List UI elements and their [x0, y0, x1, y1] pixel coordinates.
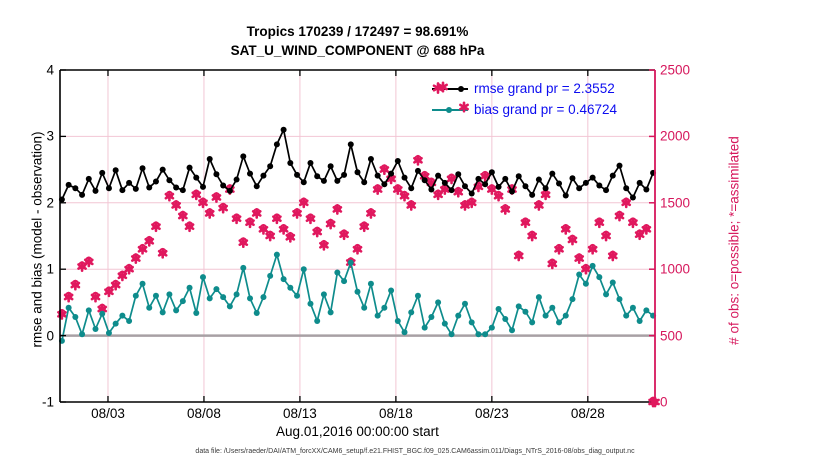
bias-series — [59, 252, 656, 344]
observation-diagnostics-figure: Tropics 170239 / 172497 = 98.691% SAT_U_… — [0, 0, 830, 470]
legend-label-bias: bias grand pr = 0.46724 — [472, 99, 617, 120]
y-tick-left-1: 1 — [46, 262, 54, 277]
legend-swatch-bias — [428, 99, 472, 120]
x-axis-label: Aug.01,2016 00:00:00 start — [60, 424, 655, 439]
x-tick-08/03: 08/03 — [91, 406, 125, 421]
x-tick-08/28: 08/28 — [571, 406, 605, 421]
chart-legend: rmse grand pr = 2.3552 bias grand pr = 0… — [428, 78, 617, 120]
x-tick-08/23: 08/23 — [475, 406, 509, 421]
rmse-series — [59, 127, 656, 203]
legend-row-bias: bias grand pr = 0.46724 — [428, 99, 617, 120]
title-line-1: Tropics 170239 / 172497 = 98.691% — [0, 22, 715, 41]
x-tick-08/18: 08/18 — [379, 406, 413, 421]
x-tick-08/13: 08/13 — [283, 406, 317, 421]
x-tick-08/08: 08/08 — [187, 406, 221, 421]
y-tick-right-1500: 1500 — [660, 195, 690, 210]
legend-row-rmse: rmse grand pr = 2.3552 — [428, 78, 617, 99]
y-tick-right-2000: 2000 — [660, 129, 690, 144]
y-tick-right-1000: 1000 — [660, 262, 690, 277]
y-tick-left-0: 0 — [46, 328, 54, 343]
y-axis-right-ticks: 05001000150020002500 — [660, 0, 710, 470]
legend-swatch-rmse — [428, 78, 472, 99]
y-axis-right-label: # of obs: o=possible; *=assimilated — [727, 71, 742, 411]
y-tick-right-0: 0 — [660, 395, 668, 410]
legend-label-rmse: rmse grand pr = 2.3552 — [472, 78, 615, 99]
y-tick-left-3: 3 — [46, 129, 54, 144]
y-tick-right-500: 500 — [660, 328, 683, 343]
y-tick-right-2500: 2500 — [660, 63, 690, 78]
y-tick-left-4: 4 — [46, 63, 54, 78]
page-title: Tropics 170239 / 172497 = 98.691% SAT_U_… — [0, 22, 715, 60]
data-file-note: data file: /Users/raeder/DAI/ATM_forcXX/… — [0, 448, 830, 455]
title-line-2: SAT_U_WIND_COMPONENT @ 688 hPa — [0, 41, 715, 60]
y-tick-left-2: 2 — [46, 195, 54, 210]
y-axis-left-ticks: -101234 — [18, 0, 54, 470]
y-tick-left--1: -1 — [42, 395, 54, 410]
